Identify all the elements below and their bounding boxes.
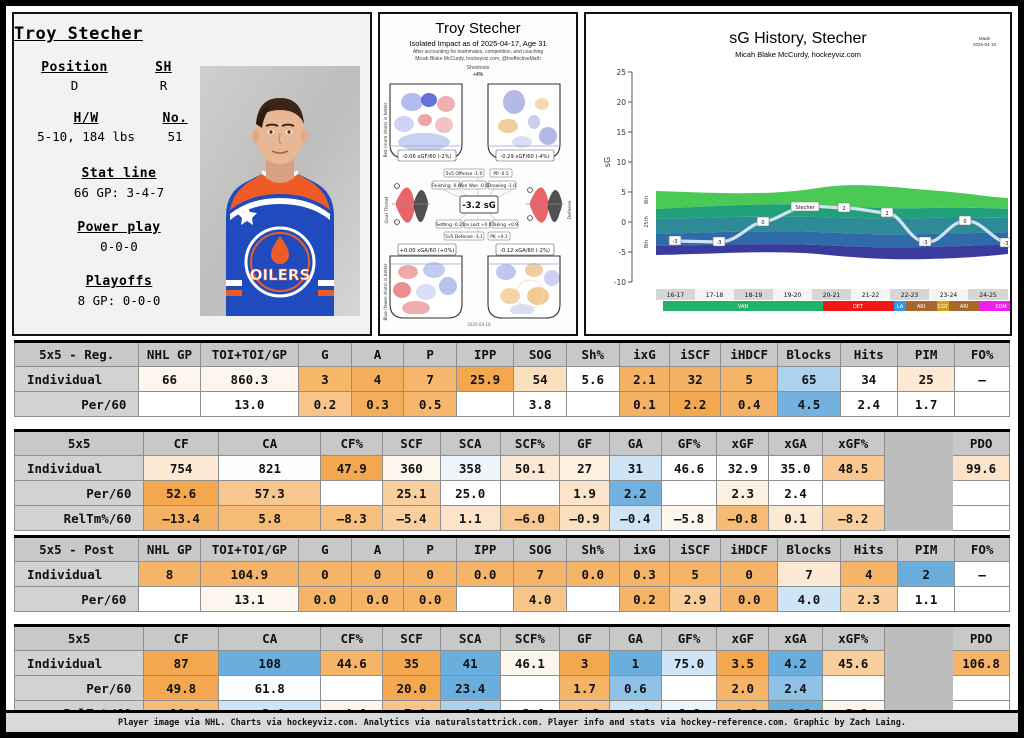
cell-blocks: 4.5 (778, 392, 840, 417)
cell-sca: 41 (440, 651, 500, 676)
svg-text:ARI: ARI (960, 304, 968, 310)
cell-blocks: 65 (778, 367, 840, 392)
sg-history-title: sG History, Stecher (586, 30, 1010, 48)
cell-pdo (953, 481, 1010, 506)
cell-xga: 4.2 (769, 651, 823, 676)
cell-sog: 7 (514, 562, 567, 587)
defense-right-value-box: -0.12 xGA/60 (-2%) (496, 244, 554, 255)
cell-scf: 25.1 (383, 481, 441, 506)
th-5: P (404, 342, 457, 367)
th-7: SOG (514, 342, 567, 367)
hw-value: 5-10, 184 lbs (30, 129, 142, 144)
th-10: iSCF (670, 342, 721, 367)
cell-xga: 2.4 (769, 481, 823, 506)
svg-text:25: 25 (616, 68, 626, 77)
table-reg-onice: 5x5 CF CA CF% SCF SCA SCF% GF GA GF% xGF… (14, 429, 1010, 531)
svg-text:PP -0.5: PP -0.5 (493, 171, 508, 177)
stat-line-block: Stat line 66 GP: 3-4-7 (24, 166, 214, 200)
th-9: ixG (619, 342, 670, 367)
table-reg-individual: 5x5 - Reg. NHL GP TOI+TOI/GP G A P IPP S… (14, 340, 1010, 417)
cell-scf: 46.1 (500, 651, 560, 676)
th-8: GA (609, 626, 661, 651)
cell-fo (955, 587, 1010, 612)
svg-text:16-17: 16-17 (667, 292, 685, 299)
svg-text:20: 20 (616, 98, 626, 107)
svg-text:Blue (fewer shots) is better: Blue (fewer shots) is better (383, 263, 388, 320)
row-label: Per/60 (15, 481, 144, 506)
cell-sh: 5.6 (566, 367, 619, 392)
svg-text:Red (more shots) is better: Red (more shots) is better (383, 102, 388, 157)
cell-blocks: 4.0 (778, 587, 840, 612)
cell-scf (500, 676, 560, 701)
svg-text:-3.2 sG: -3.2 sG (462, 201, 496, 211)
th-8: Sh% (566, 537, 619, 562)
cell-xgf: 2.0 (717, 676, 769, 701)
th-blank (884, 626, 953, 651)
cell-iscf: 32 (670, 367, 721, 392)
stats-tables: 5x5 - Reg. NHL GP TOI+TOI/GP G A P IPP S… (6, 336, 1018, 726)
cell-p: 0.0 (404, 587, 457, 612)
cell-xgf: –0.8 (717, 506, 769, 531)
shoots-label: SH (119, 60, 208, 75)
th-13: Hits (840, 342, 897, 367)
cell-cf: –8.3 (321, 506, 383, 531)
table-row: Individual75482147.936035850.1273146.632… (15, 456, 1010, 481)
svg-text:DET: DET (853, 304, 864, 310)
isolated-impact-credit-1: After accounting for teammates, competit… (382, 49, 574, 55)
svg-text:sG: sG (603, 157, 612, 167)
th-11: xGA (769, 431, 823, 456)
cell-nhlgp (139, 587, 200, 612)
th-1: CF (144, 431, 219, 456)
cell-gf (661, 676, 717, 701)
svg-text:Ice Lost +0.0: Ice Lost +0.0 (463, 222, 492, 228)
cell-g: 0 (299, 562, 352, 587)
sg-history-panel: sG History, Stecher Micah Blake McCurdy,… (584, 12, 1012, 336)
cell-nhlgp (139, 392, 200, 417)
cell-p: 0.5 (404, 392, 457, 417)
table-row: Per/6049.861.820.023.41.70.62.02.4 (15, 676, 1010, 701)
svg-text:OILERS: OILERS (250, 266, 311, 284)
svg-text:Are Won -0.6: Are Won -0.6 (460, 183, 489, 189)
cell-sh (566, 587, 619, 612)
th-11: iHDCF (720, 342, 777, 367)
cell-sca: 25.0 (440, 481, 500, 506)
center-sg-box: -3.2 sG (460, 196, 498, 213)
player-headshot: OILERS (200, 66, 360, 316)
svg-text:Taking +0.9: Taking +0.9 (491, 222, 518, 228)
cell-pim: 25 (897, 367, 954, 392)
stat-line-label: Stat line (24, 166, 214, 181)
cell-gf (661, 481, 717, 506)
table-row: Individual66860.334725.9545.62.132565342… (15, 367, 1010, 392)
cell-blank (884, 676, 953, 701)
sg-history-chart: 25 20 15 10 5 0 -5 -10 sG (588, 62, 1012, 312)
cell-ca: 821 (218, 456, 320, 481)
defense-left-value-box: +0.00 xGA/60 (+0%) (398, 244, 456, 255)
shootouts-value: +4% (382, 72, 574, 78)
th-12: Blocks (778, 537, 840, 562)
th-0: 5x5 - Post (15, 537, 139, 562)
table-row: RelTm%/60–13.45.8–8.3–5.41.1–6.0–0.9–0.4… (15, 506, 1010, 531)
cell-sca: 1.1 (440, 506, 500, 531)
stat-line-value: 66 GP: 3-4-7 (24, 185, 214, 200)
table-header-row: 5x5 - Reg. NHL GP TOI+TOI/GP G A P IPP S… (15, 342, 1010, 367)
svg-text:+0.00 xGA/60 (+0%): +0.00 xGA/60 (+0%) (400, 248, 455, 254)
svg-text:18-19: 18-19 (745, 292, 763, 299)
cell-blank (884, 651, 953, 676)
footer-credits: Player image via NHL. Charts via hockeyv… (6, 710, 1018, 732)
th-1: CF (144, 626, 219, 651)
cell-ga: 0.6 (609, 676, 661, 701)
cell-cf (321, 481, 383, 506)
th-9: ixG (619, 537, 670, 562)
number-label: No. (142, 111, 208, 126)
cell-cf: 47.9 (321, 456, 383, 481)
cell-iscf: 2.2 (670, 392, 721, 417)
table-row: Per/6013.00.20.30.53.80.12.20.44.52.41.7 (15, 392, 1010, 417)
isolated-impact-title: Troy Stecher (382, 20, 574, 37)
svg-text:19-20: 19-20 (784, 292, 802, 299)
cell-toitoigp: 860.3 (200, 367, 299, 392)
svg-text:VAN: VAN (738, 304, 749, 310)
svg-text:5v5 Offense -1.0: 5v5 Offense -1.0 (446, 171, 483, 177)
cell-xgf: 45.6 (822, 651, 884, 676)
cell-pdo (953, 506, 1010, 531)
row-label: Per/60 (15, 392, 139, 417)
th-9: GF% (661, 431, 717, 456)
cell-ihdcf: 0.4 (720, 392, 777, 417)
cell-ga: 2.2 (609, 481, 661, 506)
cell-ixg: 0.2 (619, 587, 670, 612)
sg-history-subtitle: Micah Blake McCurdy, hockeyviz.com (586, 50, 1010, 59)
th-15: FO% (955, 537, 1010, 562)
cell-xgf: 2.3 (717, 481, 769, 506)
th-5: SCA (440, 626, 500, 651)
svg-text:20-21: 20-21 (823, 292, 841, 299)
th-7: GF (560, 431, 610, 456)
cell-nhlgp: 66 (139, 367, 200, 392)
svg-text:EDM: EDM (995, 304, 1006, 310)
cell-ca: 108 (218, 651, 320, 676)
table-row: Per/6052.657.325.125.01.92.22.32.4 (15, 481, 1010, 506)
cell-scf: –6.0 (500, 506, 560, 531)
cell-toitoigp: 13.1 (200, 587, 299, 612)
th-3: CF% (321, 626, 383, 651)
cell-xga: 35.0 (769, 456, 823, 481)
cell-ca: 57.3 (218, 481, 320, 506)
playoffs-value: 8 GP: 0-0-0 (24, 293, 214, 308)
th-0: 5x5 - Reg. (15, 342, 139, 367)
isolated-impact-panel: Troy Stecher Isolated Impact as of 2025-… (378, 12, 578, 336)
cell-fo: – (955, 562, 1010, 587)
th-11: xGA (769, 626, 823, 651)
cell-scf: 20.0 (383, 676, 441, 701)
cell-pim: 1.7 (897, 392, 954, 417)
cell-gf: 3 (560, 651, 610, 676)
cell-toitoigp: 104.9 (200, 562, 299, 587)
th-8: GA (609, 431, 661, 456)
cell-xgf: 3.5 (717, 651, 769, 676)
position-shoots-row: Position D SH R (24, 60, 214, 93)
cell-ipp (456, 392, 513, 417)
svg-text:-0.29 xGF/60 (-4%): -0.29 xGF/60 (-4%) (500, 154, 549, 160)
cell-a: 0 (351, 562, 404, 587)
cell-ixg: 2.1 (619, 367, 670, 392)
svg-text:-0.12 xGA/60 (-2%): -0.12 xGA/60 (-2%) (500, 248, 550, 254)
cell-sh (566, 392, 619, 417)
cell-gf: 46.6 (661, 456, 717, 481)
svg-text:-10: -10 (614, 278, 626, 287)
cell-gf: –0.9 (560, 506, 610, 531)
th-10: xGF (717, 626, 769, 651)
cell-ga: 1 (609, 651, 661, 676)
cell-cf: 49.8 (144, 676, 219, 701)
cell-pim: 2 (897, 562, 954, 587)
table-post-individual: 5x5 - Post NHL GP TOI+TOI/GP G A P IPP S… (14, 535, 1010, 612)
cell-blank (884, 456, 953, 481)
cell-scf: 35 (383, 651, 441, 676)
position-value: D (30, 78, 119, 93)
svg-text:Drawing -1.0: Drawing -1.0 (488, 183, 516, 189)
cell-hits: 2.3 (840, 587, 897, 612)
cell-xga: 2.4 (769, 676, 823, 701)
top-panels: Troy Stecher Position D SH R (6, 6, 1018, 336)
th-4: A (351, 342, 404, 367)
cell-xgf (822, 676, 884, 701)
svg-text:Goal Threat: Goal Threat (384, 196, 390, 223)
cell-pdo: 99.6 (953, 456, 1010, 481)
svg-text:24-25: 24-25 (979, 292, 997, 299)
cell-cf: 87 (144, 651, 219, 676)
cell-blank (884, 481, 953, 506)
th-4: SCF (383, 431, 441, 456)
svg-text:-3: -3 (717, 240, 722, 246)
cell-cf: 44.6 (321, 651, 383, 676)
player-stats-card: Troy Stecher Position D SH R (0, 0, 1024, 738)
row-label: Per/60 (15, 676, 144, 701)
th-14: PIM (897, 537, 954, 562)
th-1: NHL GP (139, 342, 200, 367)
row-label: Individual (15, 651, 144, 676)
cell-scf: –5.4 (383, 506, 441, 531)
defense-violin (526, 187, 564, 222)
isolated-impact-diagram: -0.06 xGF/60 (-2%) -0.29 xGF/60 (-4%) (382, 80, 576, 328)
cell-g: 3 (299, 367, 352, 392)
th-3: G (299, 342, 352, 367)
height-weight-number-row: H/W 5-10, 184 lbs No. 51 (24, 111, 214, 144)
th-4: SCF (383, 626, 441, 651)
cell-xgf: –8.2 (822, 506, 884, 531)
svg-text:21-22: 21-22 (862, 292, 880, 299)
playoffs-label: Playoffs (24, 274, 214, 289)
svg-text:PK +0.1: PK +0.1 (490, 234, 508, 240)
th-13: Hits (840, 537, 897, 562)
cell-sca: 23.4 (440, 676, 500, 701)
svg-text:-5: -5 (619, 248, 627, 257)
th-5: SCA (440, 431, 500, 456)
th-15: FO% (955, 342, 1010, 367)
th-8: Sh% (566, 342, 619, 367)
cell-ihdcf: 0 (720, 562, 777, 587)
isolated-impact-credit-2: Micah Blake McCurdy, hockeyviz.com, @Ine… (382, 56, 574, 62)
th-6: SCF% (500, 431, 560, 456)
th-blank (884, 431, 953, 456)
playoffs-block: Playoffs 8 GP: 0-0-0 (24, 274, 214, 308)
cell-pdo (953, 676, 1010, 701)
cell-cf (321, 676, 383, 701)
svg-text:0: 0 (761, 220, 764, 226)
shoots-value: R (119, 78, 208, 93)
svg-text:5v5 Defense -3.1: 5v5 Defense -3.1 (445, 234, 483, 240)
th-0: 5x5 (15, 626, 144, 651)
svg-text:8th: 8th (644, 240, 650, 248)
cell-ga: –0.4 (609, 506, 661, 531)
offense-left-value-box: -0.06 xGF/60 (-2%) (398, 150, 456, 161)
power-play-block: Power play 0-0-0 (24, 220, 214, 254)
row-label: RelTm%/60 (15, 506, 144, 531)
svg-text:23-24: 23-24 (940, 292, 958, 299)
percentile-bands (656, 185, 1008, 259)
cell-gf: 1.7 (560, 676, 610, 701)
th-7: GF (560, 626, 610, 651)
cell-hits: 34 (840, 367, 897, 392)
svg-text:-3: -3 (673, 239, 678, 245)
th-14: PDO (953, 626, 1010, 651)
cell-pim: 1.1 (897, 587, 954, 612)
th-11: iHDCF (720, 537, 777, 562)
number-value: 51 (142, 129, 208, 144)
cell-ipp (456, 587, 513, 612)
cell-sog: 54 (514, 367, 567, 392)
table-body: Individual66860.334725.9545.62.132565342… (15, 367, 1010, 417)
svg-text:15: 15 (616, 128, 626, 137)
cell-iscf: 5 (670, 562, 721, 587)
cell-sog: 4.0 (514, 587, 567, 612)
cell-toitoigp: 13.0 (200, 392, 299, 417)
goal-threat-violin (392, 184, 430, 225)
svg-text:10: 10 (616, 158, 626, 167)
svg-text:ARI: ARI (917, 304, 925, 310)
svg-text:0: 0 (963, 219, 966, 225)
cell-ga: 31 (609, 456, 661, 481)
cell-fo (955, 392, 1010, 417)
svg-text:-3: -3 (923, 240, 928, 246)
th-10: iSCF (670, 537, 721, 562)
player-bio-panel: Troy Stecher Position D SH R (12, 12, 372, 336)
offense-right-value-box: -0.29 xGF/60 (-4%) (496, 150, 554, 161)
hw-label: H/W (30, 111, 142, 126)
table-row: Individual8710844.6354146.13175.03.54.24… (15, 651, 1010, 676)
svg-text:0: 0 (621, 218, 626, 227)
isolated-impact-subtitle: Isolated Impact as of 2025-04-17, Age 31 (382, 39, 574, 48)
cell-xga: 0.1 (769, 506, 823, 531)
th-2: TOI+TOI/GP (200, 342, 299, 367)
svg-text:Defense: Defense (567, 200, 573, 219)
cell-scf: 50.1 (500, 456, 560, 481)
th-5: P (404, 537, 457, 562)
row-label: Per/60 (15, 587, 139, 612)
footer-text: Player image via NHL. Charts via hockeyv… (118, 718, 906, 728)
cell-blank (884, 506, 953, 531)
cell-p: 7 (404, 367, 457, 392)
th-12: xGF% (822, 626, 884, 651)
svg-text:Setting -0.2: Setting -0.2 (436, 222, 462, 228)
table-header-row: 5x5 - Post NHL GP TOI+TOI/GP G A P IPP S… (15, 537, 1010, 562)
team-color-bar: VAN DET LA ARI CGY ARI EDM (663, 301, 1012, 311)
cell-cf: –13.4 (144, 506, 219, 531)
cell-hits: 4 (840, 562, 897, 587)
cell-xgf: 48.5 (822, 456, 884, 481)
table-header-row: 5x5 CF CA CF% SCF SCA SCF% GF GA GF% xGF… (15, 431, 1010, 456)
position-label: Position (30, 60, 119, 75)
svg-text:2: 2 (885, 211, 888, 217)
cell-ipp: 25.9 (456, 367, 513, 392)
th-6: IPP (456, 537, 513, 562)
svg-text:Stecher: Stecher (795, 205, 815, 211)
cell-ipp: 0.0 (456, 562, 513, 587)
shootouts-label: Shootouts (382, 65, 574, 71)
table-body: Individual8104.90000.070.00.350742–Per/6… (15, 562, 1010, 612)
svg-text:25th: 25th (644, 216, 650, 228)
cell-a: 4 (351, 367, 404, 392)
cell-a: 0.3 (351, 392, 404, 417)
svg-text:Finishing -0.6: Finishing -0.6 (431, 183, 460, 189)
cell-xgf (822, 481, 884, 506)
th-12: Blocks (778, 342, 840, 367)
svg-text:5: 5 (621, 188, 626, 197)
th-1: NHL GP (139, 537, 200, 562)
cell-gf: 75.0 (661, 651, 717, 676)
cell-scf (500, 481, 560, 506)
power-play-label: Power play (24, 220, 214, 235)
svg-text:2025-04-18: 2025-04-18 (467, 322, 491, 327)
th-3: CF% (321, 431, 383, 456)
th-4: A (351, 537, 404, 562)
page-title: Troy Stecher (14, 24, 370, 44)
cell-iscf: 2.9 (670, 587, 721, 612)
th-0: 5x5 (15, 431, 144, 456)
cell-g: 0.0 (299, 587, 352, 612)
cell-scf: 360 (383, 456, 441, 481)
svg-text:22-23: 22-23 (901, 292, 919, 299)
cell-ca: 61.8 (218, 676, 320, 701)
table-header-row: 5x5 CF CA CF% SCF SCA SCF% GF GA GF% xGF… (15, 626, 1010, 651)
th-2: CA (218, 431, 320, 456)
cell-cf: 52.6 (144, 481, 219, 506)
cell-gf: –5.8 (661, 506, 717, 531)
th-3: G (299, 537, 352, 562)
cell-a: 0.0 (351, 587, 404, 612)
svg-text:-0.06 xGF/60 (-2%): -0.06 xGF/60 (-2%) (402, 154, 451, 160)
cell-gf: 27 (560, 456, 610, 481)
cell-fo: – (955, 367, 1010, 392)
cell-gf: 1.9 (560, 481, 610, 506)
cell-cf: 754 (144, 456, 219, 481)
cell-pdo: 106.8 (953, 651, 1010, 676)
cell-g: 0.2 (299, 392, 352, 417)
th-2: TOI+TOI/GP (200, 537, 299, 562)
cell-xgf: 32.9 (717, 456, 769, 481)
th-2: CA (218, 626, 320, 651)
table-row: Individual8104.90000.070.00.350742– (15, 562, 1010, 587)
cell-ihdcf: 0.0 (720, 587, 777, 612)
power-play-value: 0-0-0 (24, 239, 214, 254)
sg-history-stamp: Made2025-04-18 (973, 36, 996, 49)
th-10: xGF (717, 431, 769, 456)
row-label: Individual (15, 562, 139, 587)
cell-p: 0 (404, 562, 457, 587)
